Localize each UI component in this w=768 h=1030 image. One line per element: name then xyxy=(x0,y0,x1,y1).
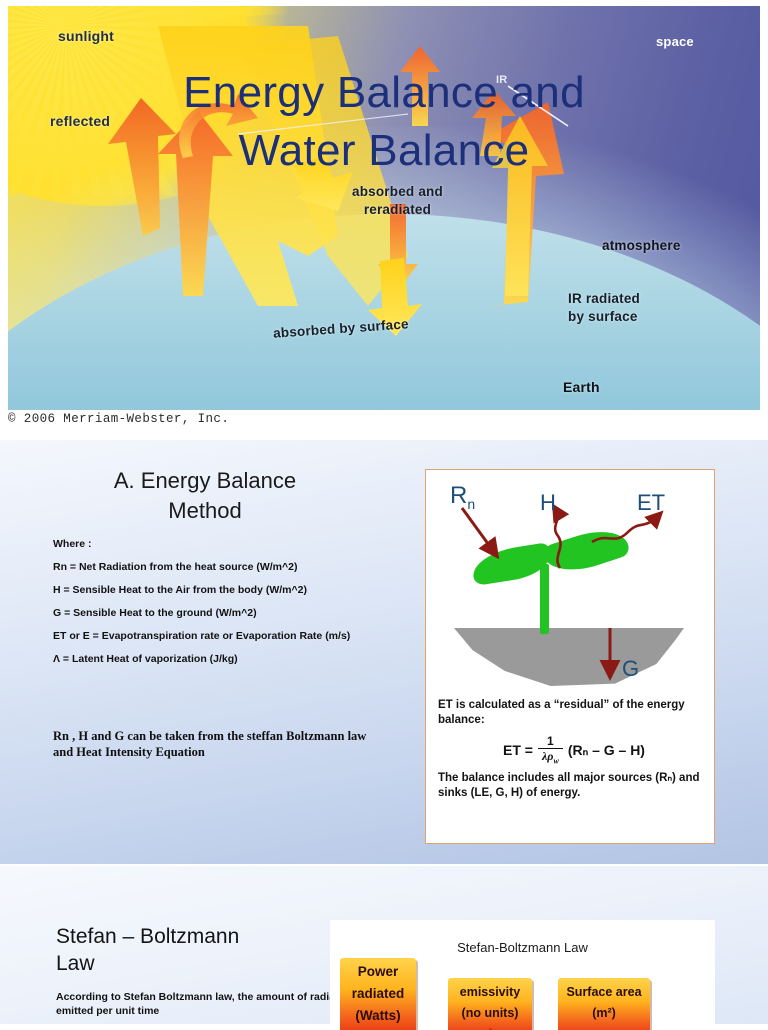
label-ir-line2: by surface xyxy=(568,308,640,326)
label-atmosphere: atmosphere xyxy=(602,238,681,253)
figure-label-rn: Rn xyxy=(450,482,475,512)
slide-3-stefan-boltzmann: Stefan – Boltzmann Law According to Stef… xyxy=(0,866,768,1024)
slide-1-title-text: Energy Balance and Water Balance xyxy=(8,64,760,180)
presentation-page: sunlight space reflected IR absorbed and… xyxy=(0,0,768,1024)
slide-2-title-line-1: A. Energy Balance xyxy=(40,466,370,496)
slide-2-title: A. Energy Balance Method xyxy=(40,466,370,526)
chip-power-radiated: Power radiated (Watts) xyxy=(340,958,416,1030)
label-ir-line1: IR radiated xyxy=(568,290,640,308)
slide-3-title: Stefan – Boltzmann Law xyxy=(56,923,346,977)
chip-emissivity-line2: (no units) xyxy=(448,1003,532,1024)
chip-emissivity: emissivity (no units) xyxy=(448,978,532,1030)
stefan-boltzmann-diagram: Stefan-Boltzmann Law Power radiated (Wat… xyxy=(330,920,715,1030)
slide-2-energy-balance-method: A. Energy Balance Method Where : Rn = Ne… xyxy=(0,440,768,864)
chip-surface-area-line1: Surface area xyxy=(558,982,650,1003)
h-wavy-arrow xyxy=(555,510,560,568)
where-heading: Where : xyxy=(53,538,373,551)
note-text: Rn , H and G can be taken from the steff… xyxy=(53,728,373,760)
figure-label-g: G xyxy=(622,656,639,682)
figure-caption-line-2: The balance includes all major sources (… xyxy=(438,771,710,801)
label-absorbed-line2: reradiated xyxy=(352,201,443,219)
definition-lambda: Λ = Latent Heat of vaporization (J/kg) xyxy=(53,653,373,666)
et-equation: ET = 1 λρw (Rₙ – G – H) xyxy=(438,735,710,765)
et-wavy-arrow xyxy=(592,516,658,542)
energy-balance-illustration: sunlight space reflected IR absorbed and… xyxy=(8,6,760,410)
equation-fraction: 1 λρw xyxy=(538,735,563,765)
slide-3-title-line-1: Stefan – Boltzmann xyxy=(56,923,346,950)
slide-3-body-text: According to Stefan Boltzmann law, the a… xyxy=(56,991,356,1018)
chip-surface-area-line2: (m²) xyxy=(558,1003,650,1024)
chip-emissivity-line1: emissivity xyxy=(448,982,532,1003)
label-absorbed-line1: absorbed and xyxy=(352,183,443,201)
equation-rhs: (Rₙ – G – H) xyxy=(568,743,645,758)
chip-surface-area: Surface area (m²) xyxy=(558,978,650,1030)
equation-lhs: ET = xyxy=(503,743,533,758)
label-ir-radiated-by-surface: IR radiated by surface xyxy=(568,290,640,326)
definition-g: G = Sensible Heat to the ground (W/m^2) xyxy=(53,607,373,620)
title-line-2: Water Balance xyxy=(8,122,760,180)
chip-power-line1: Power xyxy=(340,961,416,983)
title-line-1: Energy Balance and xyxy=(8,64,760,122)
label-space: space xyxy=(656,34,694,49)
slide-1-title: sunlight space reflected IR absorbed and… xyxy=(0,0,768,438)
figure-label-et: ET xyxy=(637,490,665,516)
slide-2-title-line-2: Method xyxy=(40,496,370,526)
label-absorbed-reradiated: absorbed and reradiated xyxy=(352,183,443,219)
label-sunlight: sunlight xyxy=(58,28,114,44)
label-earth: Earth xyxy=(563,379,600,395)
copyright-notice: © 2006 Merriam-Webster, Inc. xyxy=(8,412,229,426)
equation-denominator: λρw xyxy=(538,748,563,765)
slide-3-title-line-2: Law xyxy=(56,950,346,977)
plant-energy-balance-figure: Rn H ET G ET is calculated as a “residua… xyxy=(425,469,715,844)
chip-power-line2: radiated xyxy=(340,983,416,1005)
figure-caption: ET is calculated as a “residual” of the … xyxy=(438,698,710,801)
equation-numerator: 1 xyxy=(543,735,558,748)
definition-h: H = Sensible Heat to the Air from the bo… xyxy=(53,584,373,597)
figure-caption-line-1: ET is calculated as a “residual” of the … xyxy=(438,698,710,728)
definitions-block: Where : Rn = Net Radiation from the heat… xyxy=(53,538,373,676)
diagram-title: Stefan-Boltzmann Law xyxy=(330,940,715,955)
figure-label-h: H xyxy=(540,490,556,516)
rn-arrow xyxy=(462,508,494,552)
definition-et: ET or E = Evapotranspiration rate or Eva… xyxy=(53,630,373,643)
definition-rn: Rn = Net Radiation from the heat source … xyxy=(53,561,373,574)
